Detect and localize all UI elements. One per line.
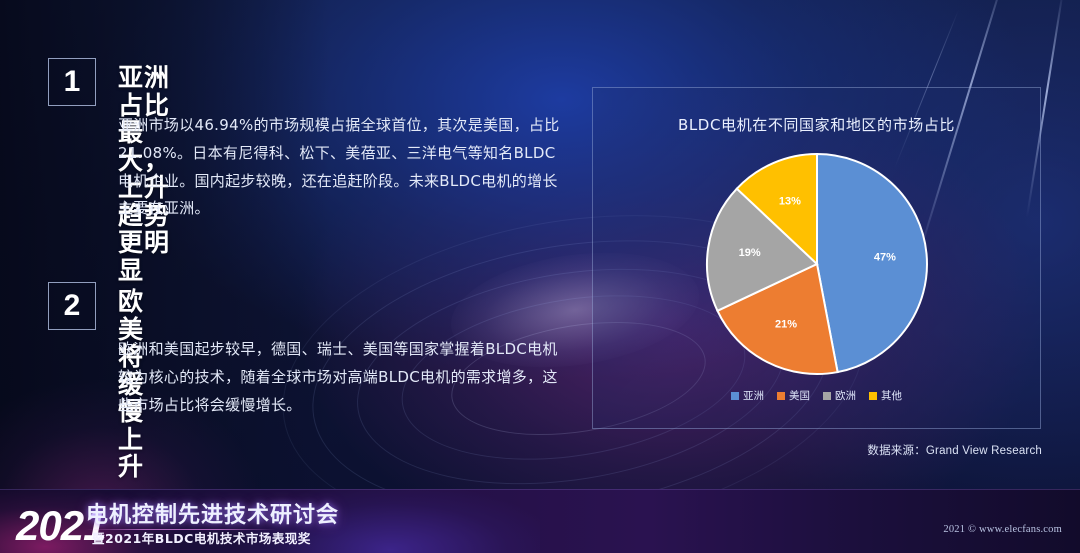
pie-slice-label: 13% — [778, 195, 800, 207]
block-1-body: 亚洲市场以46.94%的市场规模占据全球首位，其次是美国，占比21.08%。日本… — [118, 112, 570, 223]
legend-label: 亚洲 — [743, 388, 764, 403]
footer-bar: 2021 电机控制先进技术研讨会 暨2021年BLDC电机技术市场表现奖 202… — [0, 489, 1080, 553]
slide-root: 1 亚洲占比最大，上升趋势更明显 亚洲市场以46.94%的市场规模占据全球首位，… — [0, 0, 1080, 553]
footer-event-subtitle: 暨2021年BLDC电机技术市场表现奖 — [92, 533, 311, 546]
footer-event-title: 电机控制先进技术研讨会 — [86, 505, 339, 527]
data-source-note: 数据来源：Grand View Research — [867, 442, 1042, 458]
legend-item[interactable]: 其他 — [869, 388, 902, 403]
pie-slice-label: 47% — [873, 251, 895, 263]
legend-label: 其他 — [881, 388, 902, 403]
footer-copyright: 2021 © www.elecfans.com — [943, 524, 1062, 535]
chart-title: BLDC电机在不同国家和地区的市场占比 — [593, 114, 1040, 135]
block-2-number-badge: 2 — [48, 282, 96, 330]
legend-swatch-icon — [823, 392, 831, 400]
legend-swatch-icon — [869, 392, 877, 400]
pie-slice — [817, 154, 927, 372]
chart-legend: 亚洲美国欧洲其他 — [593, 388, 1040, 403]
footer-divider — [86, 529, 276, 530]
pie-chart: 47%21%19%13% — [703, 150, 931, 378]
pie-slice-label: 19% — [738, 247, 760, 259]
legend-label: 欧洲 — [835, 388, 856, 403]
data-source-value: Grand View Research — [926, 445, 1042, 457]
block-2-number: 2 — [64, 291, 81, 321]
block-1-number: 1 — [64, 67, 81, 97]
block-2-body: 欧洲和美国起步较早，德国、瑞士、美国等国家掌握着BLDC电机较为核心的技术，随着… — [118, 336, 570, 419]
block-1-number-badge: 1 — [48, 58, 96, 106]
legend-label: 美国 — [789, 388, 810, 403]
legend-item[interactable]: 亚洲 — [731, 388, 764, 403]
pie-slice-label: 21% — [775, 319, 797, 331]
pie-chart-svg: 47%21%19%13% — [703, 150, 931, 378]
legend-swatch-icon — [731, 392, 739, 400]
chart-panel: BLDC电机在不同国家和地区的市场占比 47%21%19%13% 亚洲美国欧洲其… — [592, 87, 1041, 429]
data-source-label: 数据来源： — [867, 443, 926, 457]
legend-swatch-icon — [777, 392, 785, 400]
legend-item[interactable]: 美国 — [777, 388, 810, 403]
legend-item[interactable]: 欧洲 — [823, 388, 856, 403]
